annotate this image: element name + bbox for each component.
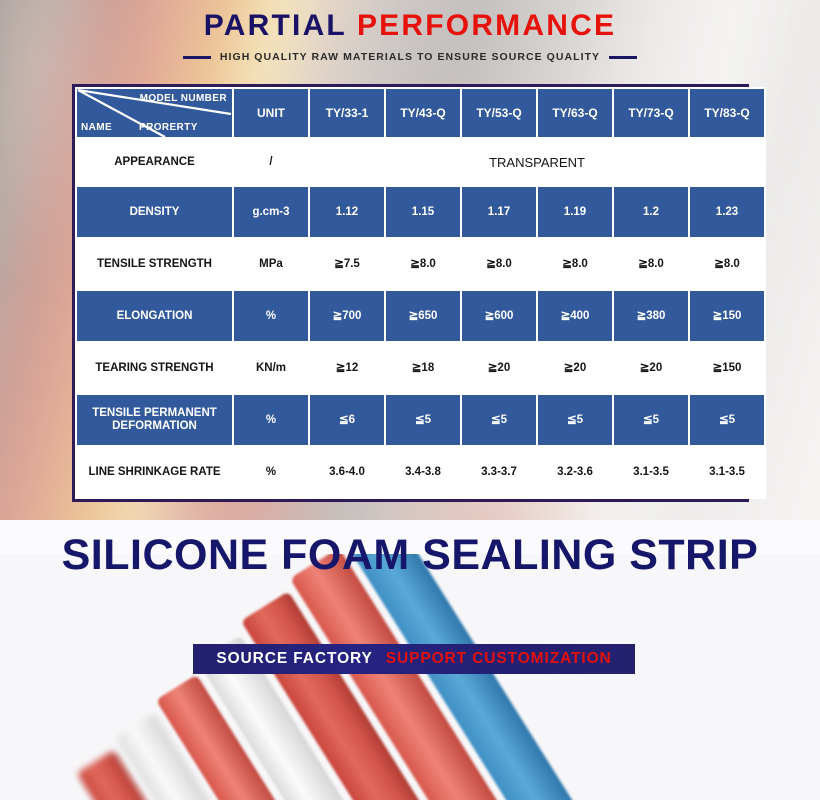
row-label: APPEARANCE [77,139,232,185]
row-value: 1.17 [462,187,536,237]
spec-table-body: MODEL NUMBER PRORERTY NAME UNIT TY/33-1 … [77,89,764,497]
row-value: ≧650 [386,291,460,341]
row-value: ≧400 [538,291,612,341]
row-value: ≦5 [538,395,612,445]
row-unit: MPa [234,239,308,289]
row-label: LINE SHRINKAGE RATE [77,447,232,497]
page-subtitle: HIGH QUALITY RAW MATERIALS TO ENSURE SOU… [220,51,600,63]
row-value: ≦6 [310,395,384,445]
header-corner-cell: MODEL NUMBER PRORERTY NAME [77,89,232,137]
spec-table: MODEL NUMBER PRORERTY NAME UNIT TY/33-1 … [75,87,766,499]
badge-source-factory: SOURCE FACTORY [216,650,372,668]
row-unit: g.cm-3 [234,187,308,237]
top-heading: PARTIAL PERFORMANCE HIGH QUALITY RAW MAT… [0,8,820,63]
page-title-part2: PERFORMANCE [357,9,616,42]
table-row: TEARING STRENGTH KN/m ≧12 ≧18 ≧20 ≧20 ≧2… [77,343,764,393]
row-value: 1.23 [690,187,764,237]
row-value: ≧20 [538,343,612,393]
row-value: 1.15 [386,187,460,237]
row-value: 3.2-3.6 [538,447,612,497]
row-value: ≧600 [462,291,536,341]
row-value: ≧8.0 [690,239,764,289]
row-merged-value: TRANSPARENT [310,139,764,185]
row-value: ≧8.0 [538,239,612,289]
row-value: ≧20 [614,343,688,393]
row-value: ≦5 [614,395,688,445]
table-row: TENSILE PERMANENT DEFORMATION % ≦6 ≦5 ≦5… [77,395,764,445]
page-title: PARTIAL PERFORMANCE [0,8,820,44]
row-value: ≧380 [614,291,688,341]
row-value: ≧8.0 [386,239,460,289]
row-value: 3.1-3.5 [690,447,764,497]
column-header-ty43-q: TY/43-Q [386,89,460,137]
column-header-ty73-q: TY/73-Q [614,89,688,137]
row-value: ≧700 [310,291,384,341]
row-value: ≦5 [386,395,460,445]
top-section: PARTIAL PERFORMANCE HIGH QUALITY RAW MAT… [0,0,820,520]
column-header-unit: UNIT [234,89,308,137]
rule-right-icon [609,56,637,59]
row-value: ≧18 [386,343,460,393]
row-value: ≧7.5 [310,239,384,289]
row-unit: / [234,139,308,185]
product-title: SILICONE FOAM SEALING STRIP [0,531,820,580]
row-value: 1.19 [538,187,612,237]
row-label: TEARING STRENGTH [77,343,232,393]
corner-label-model-number: MODEL NUMBER [140,92,227,105]
table-row: APPEARANCE / TRANSPARENT [77,139,764,185]
table-row: ELONGATION % ≧700 ≧650 ≧600 ≧400 ≧380 ≧1… [77,291,764,341]
table-header-row: MODEL NUMBER PRORERTY NAME UNIT TY/33-1 … [77,89,764,137]
row-label: TENSILE STRENGTH [77,239,232,289]
row-value: ≧8.0 [462,239,536,289]
column-header-ty63-q: TY/63-Q [538,89,612,137]
row-value: ≧20 [462,343,536,393]
row-value: 1.12 [310,187,384,237]
page-title-part1: PARTIAL [204,9,347,42]
column-header-ty33-1: TY/33-1 [310,89,384,137]
spec-table-frame: MODEL NUMBER PRORERTY NAME UNIT TY/33-1 … [72,84,749,502]
row-value: ≧12 [310,343,384,393]
row-value: ≧150 [690,343,764,393]
row-label: DENSITY [77,187,232,237]
row-value: 3.4-3.8 [386,447,460,497]
row-value: 1.2 [614,187,688,237]
row-value: ≧8.0 [614,239,688,289]
row-value: ≦5 [690,395,764,445]
subtitle-row: HIGH QUALITY RAW MATERIALS TO ENSURE SOU… [0,51,820,63]
row-value: 3.3-3.7 [462,447,536,497]
table-row: LINE SHRINKAGE RATE % 3.6-4.0 3.4-3.8 3.… [77,447,764,497]
row-value: 3.1-3.5 [614,447,688,497]
corner-label-property: PRORERTY [139,121,198,134]
badge-support-customization: SUPPORT CUSTOMIZATION [386,650,612,668]
corner-label-name: NAME [81,121,112,134]
rule-left-icon [183,56,211,59]
table-row: DENSITY g.cm-3 1.12 1.15 1.17 1.19 1.2 1… [77,187,764,237]
row-value: 3.6-4.0 [310,447,384,497]
row-unit: % [234,291,308,341]
row-label: TENSILE PERMANENT DEFORMATION [77,395,232,445]
column-header-ty83-q: TY/83-Q [690,89,764,137]
row-value: ≦5 [462,395,536,445]
row-unit: KN/m [234,343,308,393]
row-unit: % [234,395,308,445]
row-unit: % [234,447,308,497]
row-label: ELONGATION [77,291,232,341]
column-header-ty53-q: TY/53-Q [462,89,536,137]
badge-bar: SOURCE FACTORY SUPPORT CUSTOMIZATION [193,644,635,674]
row-value: ≧150 [690,291,764,341]
table-row: TENSILE STRENGTH MPa ≧7.5 ≧8.0 ≧8.0 ≧8.0… [77,239,764,289]
